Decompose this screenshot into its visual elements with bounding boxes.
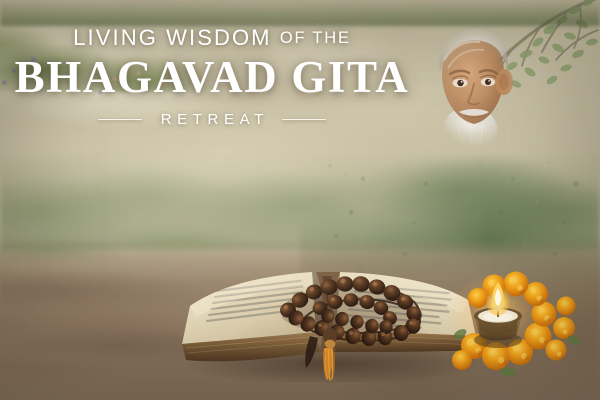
marigold-garland (452, 272, 582, 378)
background-leaf-texture (300, 150, 600, 400)
sage-portrait (412, 16, 536, 168)
background-ground-texture (0, 250, 600, 400)
eyebrow-strong: LIVING WISDOM (73, 25, 271, 50)
eyebrow-light: OF THE (280, 29, 351, 47)
candle-flame (486, 282, 510, 316)
mala-beads (278, 275, 425, 380)
background-ground-plane (0, 238, 600, 400)
background-hazy-treeline (0, 150, 600, 250)
page-title: BHAGAVAD GITA (0, 55, 424, 101)
subhead-row: RETREAT (0, 111, 424, 128)
candle-and-marigolds (452, 268, 592, 380)
rule-left-icon (98, 119, 142, 120)
subhead-label: RETREAT (155, 111, 269, 128)
title-block: LIVING WISDOM OF THE BHAGAVAD GITA RETRE… (0, 26, 424, 128)
rule-right-icon (282, 119, 326, 120)
open-book-with-mala (170, 232, 490, 382)
tea-light-holder (474, 308, 522, 349)
retreat-promo-banner: LIVING WISDOM OF THE BHAGAVAD GITA RETRE… (0, 0, 600, 400)
background-bottom-edge (0, 0, 600, 26)
eyebrow-line: LIVING WISDOM OF THE (0, 26, 424, 49)
background-foliage-mass (300, 120, 600, 400)
tree-branches-icon (470, 0, 600, 130)
background-moss-patch (0, 232, 300, 282)
